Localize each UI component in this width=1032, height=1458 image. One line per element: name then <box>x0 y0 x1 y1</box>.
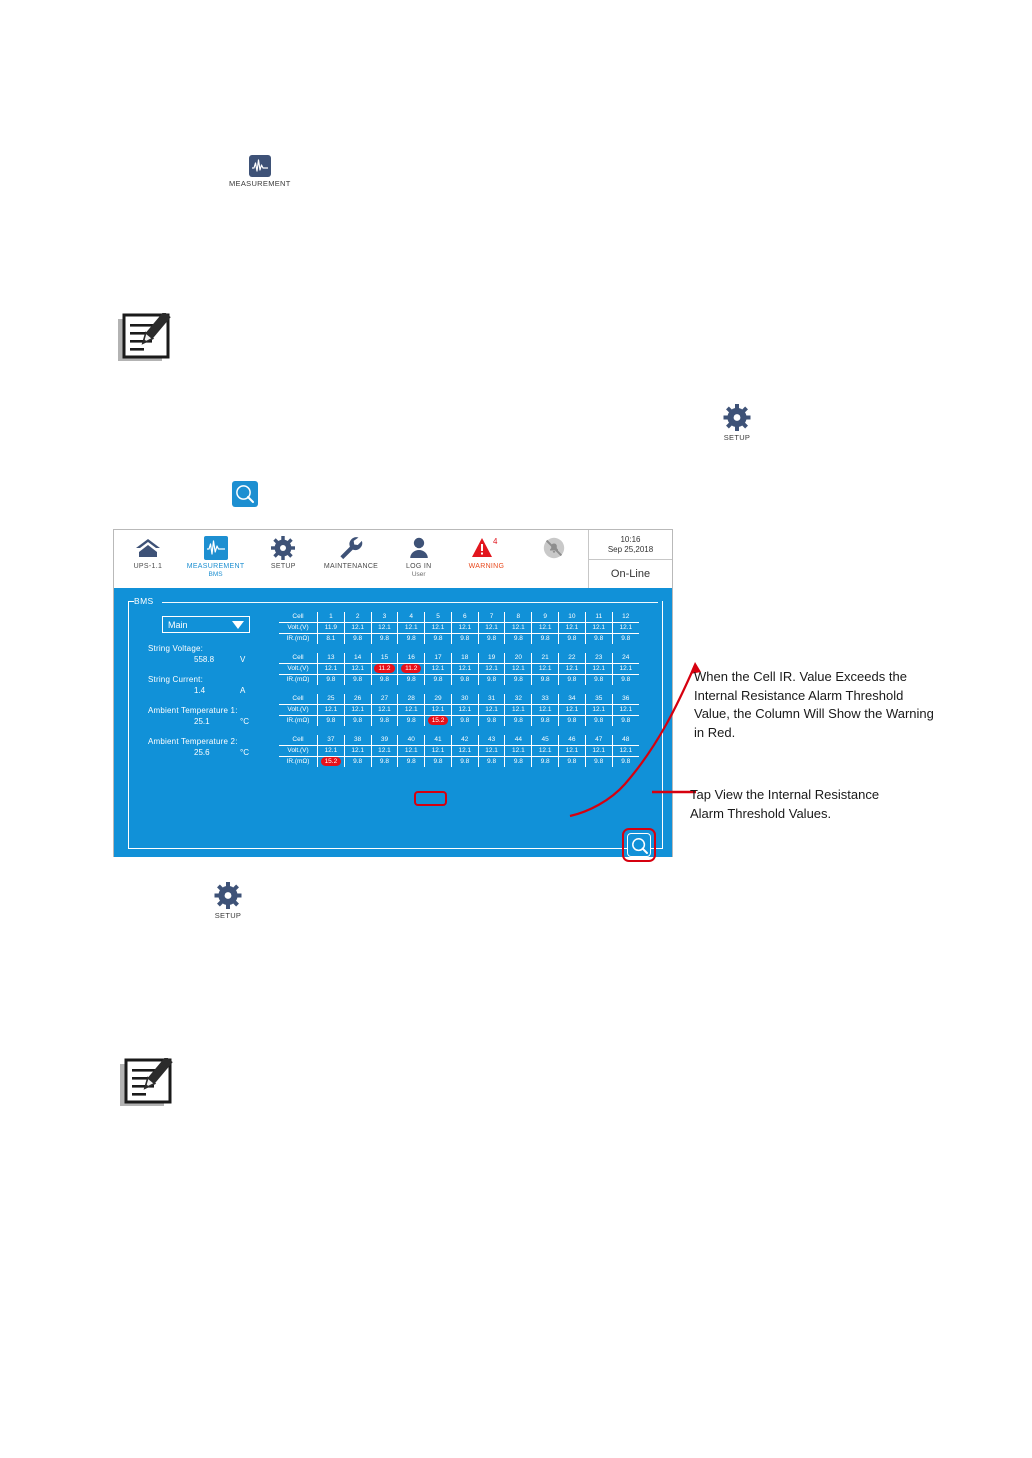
cell-number-row-cell: 14 <box>344 653 371 664</box>
waveform-icon <box>249 155 271 177</box>
magnifier-icon <box>232 481 258 507</box>
cell-ir-row-label: IR.(mΩ) <box>279 634 318 645</box>
cell-number-row-cell: 10 <box>559 612 586 623</box>
nav-item-warning-label: WARNING <box>453 563 521 570</box>
gear-icon <box>249 535 317 561</box>
readout-string-voltage-unit: V <box>240 655 245 664</box>
readout-string-voltage-value: 558.8 <box>194 655 228 664</box>
cell-ir-row-cell: 9.8 <box>425 634 452 645</box>
cell-ir-row-cell: 9.8 <box>559 634 586 645</box>
status-badge: On-Line <box>589 560 672 588</box>
cell-number-row-cell: 12 <box>612 612 639 623</box>
nav-item-ups[interactable]: UPS-1.1 <box>114 535 182 570</box>
gear-icon <box>214 882 242 909</box>
nav-item-ups-label: UPS-1.1 <box>114 563 182 570</box>
cell-voltage-row-cell: 12.1 <box>318 664 345 675</box>
doc-measurement-label: MEASUREMENT <box>229 179 291 188</box>
cell-voltage-row-cell: 12.1 <box>505 623 532 634</box>
cell-voltage-row-cell: 11.2 <box>371 664 398 675</box>
magnifier-callout-highlight <box>622 828 656 862</box>
doc-setup-icon-block-right: SETUP <box>723 404 751 442</box>
cell-number-row-cell: 39 <box>371 735 398 746</box>
readout-ambient-temp-2-unit: °C <box>240 748 249 757</box>
cell-number-row-cell: 7 <box>478 612 505 623</box>
hmi-nav-right: 10:16 Sep 25,2018 On-Line <box>588 530 672 588</box>
cell-number-row-cell: 38 <box>344 735 371 746</box>
cell-table: Cell123456789101112Volt.(V)11.912.112.11… <box>279 612 639 644</box>
note-pencil-icon <box>116 1058 178 1112</box>
cell-ir-row-cell: 9.8 <box>318 716 345 727</box>
nav-item-measurement[interactable]: MEASUREMENT BMS <box>182 535 250 578</box>
cell-number-row-label: Cell <box>279 653 318 664</box>
cell-ir-row-cell: 9.8 <box>612 634 639 645</box>
clock-date: Sep 25,2018 <box>608 545 653 555</box>
chevron-down-icon <box>232 621 244 629</box>
cell-number-row-cell: 25 <box>318 694 345 705</box>
cell-number-row-cell: 15 <box>371 653 398 664</box>
cell-voltage-row-label: Volt.(V) <box>279 705 318 716</box>
cell-number-row-cell: 5 <box>425 612 452 623</box>
cell-voltage-row-cell: 12.1 <box>318 705 345 716</box>
cell-number-row-label: Cell <box>279 612 318 623</box>
cell-number-row-cell: 4 <box>398 612 425 623</box>
readout-ambient-temp-1-line: 25.1°C <box>148 717 298 726</box>
doc-measurement-icon-block: MEASUREMENT <box>229 155 291 188</box>
hmi-navbar: UPS-1.1 MEASUREMENT BMS <box>114 530 672 588</box>
alarm-value-badge: 11.2 <box>374 664 394 673</box>
nav-item-warning[interactable]: 4 WARNING <box>453 535 521 570</box>
readout-string-voltage-label: String Voltage: <box>148 644 298 653</box>
cell-ir-row-cell: 9.8 <box>344 675 371 686</box>
nav-item-measurement-sublabel: BMS <box>182 571 250 578</box>
cell-number-row-label: Cell <box>279 735 318 746</box>
cell-voltage-row-cell: 12.1 <box>318 746 345 757</box>
annotation-ir-warning: When the Cell IR. Value Exceeds the Inte… <box>694 668 934 742</box>
cell-number-row: Cell123456789101112 <box>279 612 639 623</box>
nav-item-maintenance-label: MAINTENANCE <box>317 563 385 570</box>
alarm-value-badge: 11.2 <box>401 664 421 673</box>
clock-display: 10:16 Sep 25,2018 <box>589 530 672 560</box>
bms-group-title: BMS <box>134 596 154 606</box>
cell-voltage-row-cell: 12.1 <box>451 623 478 634</box>
cell-voltage-row-label: Volt.(V) <box>279 746 318 757</box>
callout-leader-line-ir <box>420 660 720 830</box>
cell-voltage-row-cell: 11.9 <box>318 623 345 634</box>
readout-string-current-value: 1.4 <box>194 686 228 695</box>
cell-ir-row-cell: 9.8 <box>478 634 505 645</box>
cell-voltage-row-cell: 12.1 <box>371 623 398 634</box>
waveform-icon <box>204 536 228 560</box>
cell-voltage-row-cell: 12.1 <box>612 623 639 634</box>
cell-ir-row-cell: 9.8 <box>371 675 398 686</box>
cell-voltage-row-label: Volt.(V) <box>279 623 318 634</box>
cell-ir-row-label: IR.(mΩ) <box>279 716 318 727</box>
cell-ir-row-cell: 9.8 <box>371 716 398 727</box>
cell-ir-row: IR.(mΩ)8.19.89.89.89.89.89.89.89.89.89.8… <box>279 634 639 645</box>
cell-voltage-row-cell: 12.1 <box>371 746 398 757</box>
readout-string-voltage-line: 558.8V <box>148 655 298 664</box>
string-selector-value: Main <box>168 620 188 630</box>
note-pencil-icon <box>114 313 176 367</box>
nav-item-login-sublabel: User <box>385 571 453 578</box>
readout-string-current-unit: A <box>240 686 245 695</box>
doc-setup-icon-block-bottom: SETUP <box>214 882 242 920</box>
person-icon <box>385 535 453 561</box>
cell-ir-row-cell: 9.8 <box>371 757 398 768</box>
cell-voltage-row-cell: 12.1 <box>371 705 398 716</box>
cell-ir-row-cell: 9.8 <box>371 634 398 645</box>
string-selector-dropdown[interactable]: Main <box>162 616 250 633</box>
cell-voltage-row-label: Volt.(V) <box>279 664 318 675</box>
hmi-nav-items: UPS-1.1 MEASUREMENT BMS <box>114 530 588 588</box>
cell-voltage-row-cell: 12.1 <box>532 623 559 634</box>
cell-voltage-row-cell: 12.1 <box>344 623 371 634</box>
readout-ambient-temp-2-value: 25.6 <box>194 748 228 757</box>
cell-ir-row-cell: 9.8 <box>318 675 345 686</box>
cell-voltage-row-cell: 12.1 <box>344 746 371 757</box>
cell-voltage-row-cell: 12.1 <box>344 705 371 716</box>
cell-number-row-cell: 9 <box>532 612 559 623</box>
readout-ambient-temp-1: Ambient Temperature 1: 25.1°C <box>148 706 298 726</box>
doc-magnifier-icon-block <box>232 481 258 507</box>
readout-ambient-temp-2-label: Ambient Temperature 2: <box>148 737 298 746</box>
warning-triangle-icon: 4 <box>453 535 521 561</box>
alarm-value-badge: 15.2 <box>321 757 342 766</box>
cell-block: Cell123456789101112Volt.(V)11.912.112.11… <box>279 612 639 644</box>
nav-item-setup[interactable]: SETUP <box>249 535 317 570</box>
cell-number-row-cell: 13 <box>318 653 345 664</box>
annotation-tap-view: Tap View the Internal Resistance Alarm T… <box>690 786 910 823</box>
cell-number-row-cell: 8 <box>505 612 532 623</box>
bms-left-column: Main String Voltage: 558.8V String Curre… <box>148 616 298 757</box>
cell-ir-row-label: IR.(mΩ) <box>279 757 318 768</box>
cell-voltage-row-cell: 12.1 <box>398 623 425 634</box>
cell-voltage-row-cell: 12.1 <box>559 623 586 634</box>
cell-ir-row-cell: 9.8 <box>398 634 425 645</box>
doc-setup-label-bottom: SETUP <box>214 911 242 920</box>
cell-number-row-cell: 1 <box>318 612 345 623</box>
readout-ambient-temp-2: Ambient Temperature 2: 25.6°C <box>148 737 298 757</box>
cell-ir-row-cell: 9.8 <box>505 634 532 645</box>
cell-number-row-cell: 26 <box>344 694 371 705</box>
mute-bell-icon <box>520 535 588 561</box>
home-icon <box>114 535 182 561</box>
readout-ambient-temp-1-value: 25.1 <box>194 717 228 726</box>
gear-icon <box>723 404 751 431</box>
cell-number-row-cell: 6 <box>451 612 478 623</box>
readout-string-current: String Current: 1.4A <box>148 675 298 695</box>
cell-voltage-row-cell: 12.1 <box>478 623 505 634</box>
cell-ir-row-cell: 9.8 <box>344 757 371 768</box>
cell-number-row-cell: 37 <box>318 735 345 746</box>
cell-voltage-row-cell: 12.1 <box>585 623 612 634</box>
readout-string-voltage: String Voltage: 558.8V <box>148 644 298 664</box>
nav-item-maintenance[interactable]: MAINTENANCE <box>317 535 385 570</box>
cell-ir-row-cell: 9.8 <box>451 634 478 645</box>
bms-group-rule <box>162 602 658 603</box>
svg-text:4: 4 <box>493 537 498 546</box>
cell-number-row-cell: 2 <box>344 612 371 623</box>
cell-voltage-row-cell: 12.1 <box>344 664 371 675</box>
cell-ir-row-cell: 9.8 <box>585 634 612 645</box>
nav-item-login-label: LOG IN <box>385 563 453 570</box>
clock-time: 10:16 <box>620 535 640 545</box>
cell-ir-row-cell: 15.2 <box>318 757 345 768</box>
readout-string-current-line: 1.4A <box>148 686 298 695</box>
cell-ir-row-label: IR.(mΩ) <box>279 675 318 686</box>
cell-ir-row-cell: 8.1 <box>318 634 345 645</box>
cell-ir-row-cell: 9.8 <box>344 634 371 645</box>
nav-item-mute[interactable] <box>520 535 588 561</box>
nav-item-setup-label: SETUP <box>249 563 317 570</box>
cell-number-row-cell: 27 <box>371 694 398 705</box>
doc-setup-label-right: SETUP <box>723 433 751 442</box>
readout-ambient-temp-1-unit: °C <box>240 717 249 726</box>
cell-number-row-cell: 11 <box>585 612 612 623</box>
nav-item-login[interactable]: LOG IN User <box>385 535 453 578</box>
wrench-icon <box>317 535 385 561</box>
nav-measurement-icon-wrap <box>182 535 250 561</box>
cell-ir-row-cell: 9.8 <box>344 716 371 727</box>
nav-item-measurement-label: MEASUREMENT <box>182 563 250 570</box>
readout-string-current-label: String Current: <box>148 675 298 684</box>
cell-voltage-row-cell: 12.1 <box>425 623 452 634</box>
cell-number-row-label: Cell <box>279 694 318 705</box>
cell-number-row-cell: 3 <box>371 612 398 623</box>
readout-ambient-temp-2-line: 25.6°C <box>148 748 298 757</box>
cell-voltage-row: Volt.(V)11.912.112.112.112.112.112.112.1… <box>279 623 639 634</box>
cell-ir-row-cell: 9.8 <box>532 634 559 645</box>
readout-ambient-temp-1-label: Ambient Temperature 1: <box>148 706 298 715</box>
